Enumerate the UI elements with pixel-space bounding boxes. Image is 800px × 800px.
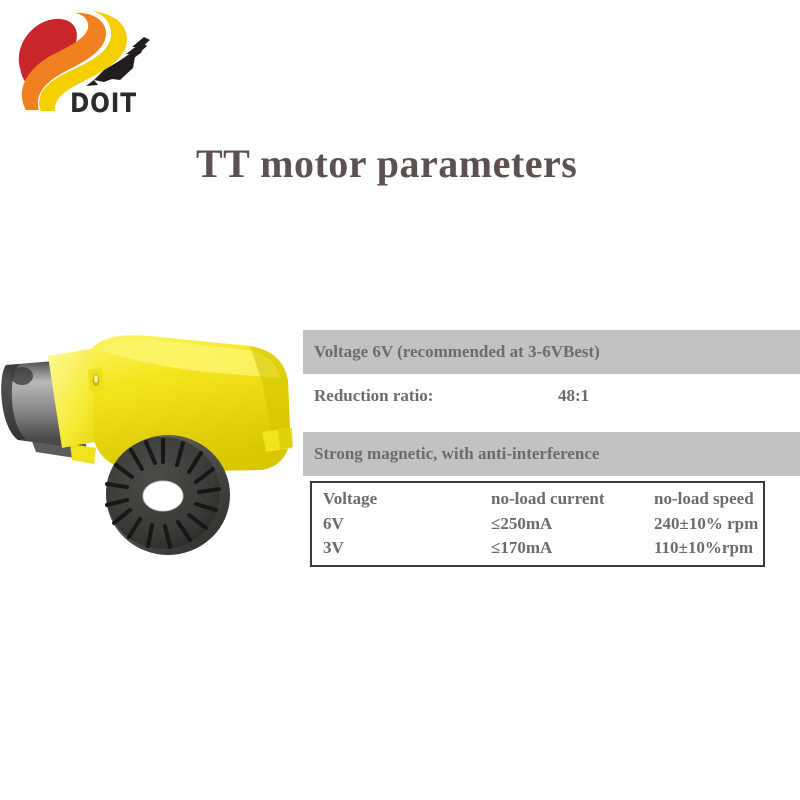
brand-logo: DOIT	[8, 10, 158, 115]
table-row: 6V ≤250mA 240±10% rpm	[312, 512, 778, 537]
table-header-no-load-speed: no-load speed	[654, 487, 778, 512]
motor-illustration	[0, 320, 310, 570]
motor-tab	[70, 444, 96, 464]
table-header-row: Voltage no-load current no-load speed	[312, 487, 778, 512]
logo-wordmark: DOIT	[70, 90, 137, 117]
magnetic-note-text: Strong magnetic, with anti-interference	[314, 444, 599, 464]
panel-spacer	[303, 422, 800, 432]
cell-no-load-speed: 240±10% rpm	[654, 512, 778, 537]
motor-screw-detail	[88, 368, 104, 392]
motor-axle-stub	[262, 428, 293, 452]
table-row: 3V ≤170mA 110±10%rpm	[312, 536, 778, 561]
table-header-voltage: Voltage	[312, 487, 491, 512]
page-title: TT motor parameters	[196, 140, 577, 187]
performance-table-wrapper: Voltage no-load current no-load speed 6V…	[310, 481, 765, 567]
encoder-disc	[106, 435, 230, 555]
cell-no-load-current: ≤170mA	[491, 536, 654, 561]
cell-voltage: 3V	[312, 536, 491, 561]
reduction-ratio-value: 48:1	[558, 386, 589, 406]
table-header-no-load-current: no-load current	[491, 487, 654, 512]
cell-no-load-current: ≤250mA	[491, 512, 654, 537]
performance-table: Voltage no-load current no-load speed 6V…	[312, 487, 778, 561]
voltage-note-text: Voltage 6V (recommended at 3-6VBest)	[314, 342, 600, 362]
spec-panel: Voltage 6V (recommended at 3-6VBest) Red…	[303, 330, 800, 567]
cell-no-load-speed: 110±10%rpm	[654, 536, 778, 561]
reduction-ratio-row: Reduction ratio: 48:1	[303, 374, 800, 422]
reduction-ratio-label: Reduction ratio:	[314, 386, 433, 406]
magnetic-note-band: Strong magnetic, with anti-interference	[303, 432, 800, 476]
voltage-note-band: Voltage 6V (recommended at 3-6VBest)	[303, 330, 800, 374]
product-image-tt-motor	[0, 320, 310, 570]
cell-voltage: 6V	[312, 512, 491, 537]
